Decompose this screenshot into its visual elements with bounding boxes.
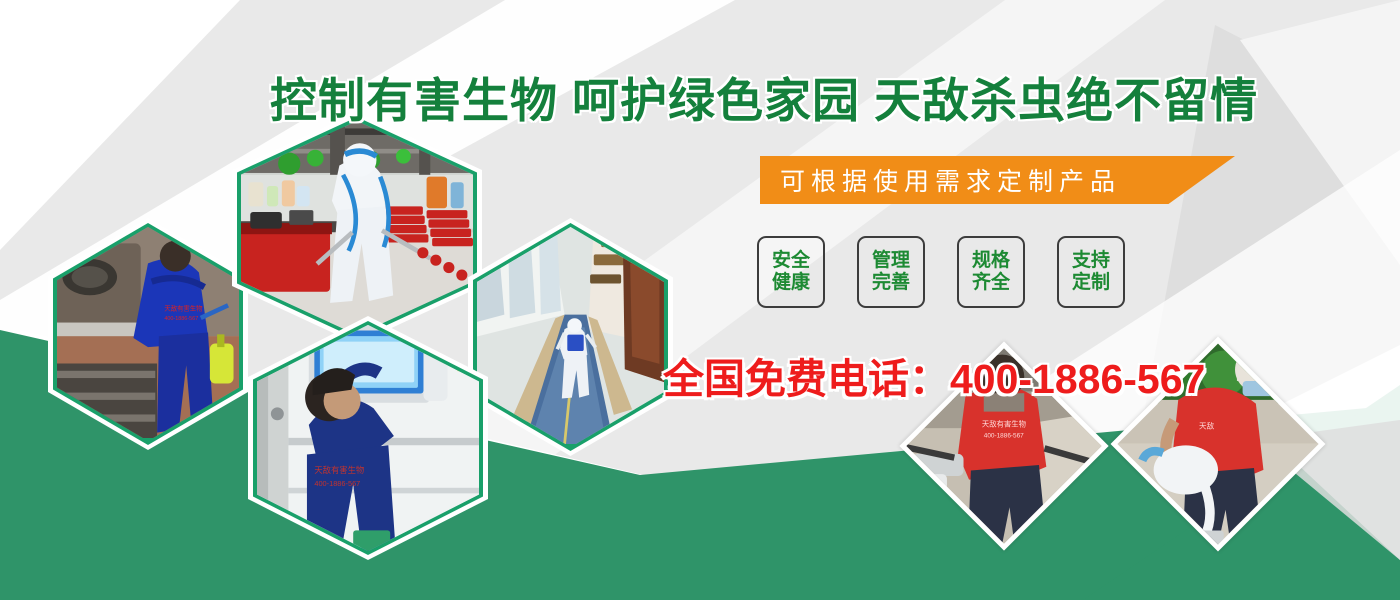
headline-slogan: 控制有害生物 呵护绿色家园 天敌杀虫绝不留情 bbox=[270, 62, 1270, 131]
badge-line-1: 规格 bbox=[972, 250, 1010, 272]
badge-line-2: 定制 bbox=[1072, 272, 1110, 294]
photo-uv-lamp-cleaning-worker: 天敌有害生物 400-1886-567 bbox=[257, 325, 479, 551]
svg-text:400-1886-567: 400-1886-567 bbox=[164, 316, 198, 322]
badge-line-2: 完善 bbox=[872, 272, 910, 294]
badge-safety-health[interactable]: 安全 健康 bbox=[757, 236, 825, 308]
badge-line-1: 管理 bbox=[872, 250, 910, 272]
promo-banner: 天敌有害生物 400-1886-567 bbox=[0, 0, 1400, 600]
hex-image-clip bbox=[241, 121, 473, 335]
photo-supermarket-disinfection-worker bbox=[241, 121, 473, 335]
badge-management-complete[interactable]: 管理 完善 bbox=[857, 236, 925, 308]
hex-image-clip bbox=[477, 227, 664, 447]
svg-text:天敌: 天敌 bbox=[1199, 421, 1215, 431]
custom-product-ribbon: 可根据使用需求定制产品 bbox=[760, 156, 1235, 204]
svg-text:400-1886-567: 400-1886-567 bbox=[984, 432, 1024, 439]
badge-line-2: 齐全 bbox=[972, 272, 1010, 294]
ribbon-label: 可根据使用需求定制产品 bbox=[760, 162, 1121, 198]
svg-text:天敌有害生物: 天敌有害生物 bbox=[982, 419, 1026, 428]
feature-badge-group: 安全 健康 管理 完善 规格 齐全 支持 定制 bbox=[757, 236, 1125, 308]
svg-text:400-1886-567: 400-1886-567 bbox=[314, 479, 360, 488]
toll-free-phone-line[interactable]: 全国免费电话：400-1886-567 bbox=[663, 345, 1205, 405]
badge-full-specifications[interactable]: 规格 齐全 bbox=[957, 236, 1025, 308]
hex-image-clip: 天敌有害生物 400-1886-567 bbox=[257, 325, 479, 551]
badge-line-1: 支持 bbox=[1072, 250, 1110, 272]
badge-supports-customization[interactable]: 支持 定制 bbox=[1057, 236, 1125, 308]
svg-text:天敌有害生物: 天敌有害生物 bbox=[314, 465, 364, 475]
svg-text:天敌有害生物: 天敌有害生物 bbox=[164, 304, 203, 313]
badge-line-2: 健康 bbox=[772, 272, 810, 294]
badge-line-1: 安全 bbox=[772, 250, 810, 272]
hex-image-clip: 天敌有害生物 400-1886-567 bbox=[57, 227, 239, 441]
